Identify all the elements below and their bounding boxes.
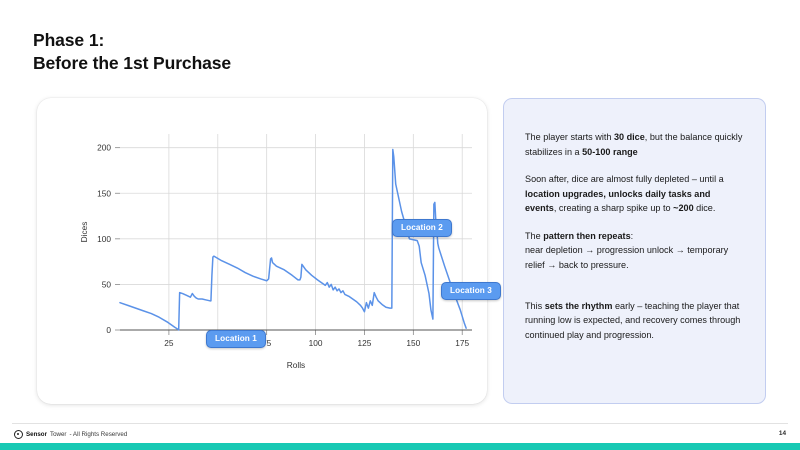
footer-accent-bar (0, 443, 800, 450)
note-run: Soon after, dice are almost fully deplet… (525, 174, 724, 184)
x-tick-label: 125 (358, 338, 372, 348)
page-title: Phase 1: Before the 1st Purchase (33, 29, 231, 76)
annotation-badge-location-3[interactable]: Location 3 (441, 282, 501, 300)
note-paragraph-2: Soon after, dice are almost fully deplet… (525, 172, 743, 216)
note-run: The player starts with (525, 132, 614, 142)
footer-brand-light: Tower (50, 431, 67, 438)
note-run: 50-100 range (582, 147, 638, 157)
x-tick-label: 25 (164, 338, 174, 348)
y-tick-label: 200 (97, 143, 111, 153)
slide-canvas: Phase 1: Before the 1st Purchase 0501001… (0, 0, 800, 450)
note-run: ~200 (673, 203, 693, 213)
note-run: dice. (694, 203, 716, 213)
note-paragraph-1: The player starts with 30 dice, but the … (525, 130, 743, 159)
note-run: pattern then repeats (543, 231, 630, 241)
chart-plot-area: 050100150200255075100125150175RollsDices (37, 98, 487, 404)
note-run: The (525, 231, 543, 241)
footer-rights-text: - All Rights Reserved (70, 431, 128, 438)
y-tick-label: 50 (102, 279, 112, 289)
note-run: near depletion → progression unlock → te… (525, 245, 728, 270)
x-tick-label: 100 (309, 338, 323, 348)
page-number: 14 (779, 430, 786, 437)
note-run: This (525, 301, 545, 311)
notes-panel: The player starts with 30 dice, but the … (503, 98, 766, 404)
chart-series-line (120, 150, 466, 331)
y-axis-title: Dices (79, 222, 89, 243)
y-tick-label: 150 (97, 188, 111, 198)
y-tick-label: 0 (106, 325, 111, 335)
footer-divider (12, 423, 788, 424)
page-title-line-2: Before the 1st Purchase (33, 52, 231, 75)
chart-card: 050100150200255075100125150175RollsDices… (37, 98, 487, 404)
footer-branding: Sensor Tower - All Rights Reserved (14, 430, 127, 439)
line-chart: 050100150200255075100125150175RollsDices… (37, 98, 487, 404)
note-paragraph-3: The pattern then repeats:near depletion … (525, 229, 743, 273)
note-run: , creating a sharp spike up to (554, 203, 673, 213)
y-tick-label: 100 (97, 234, 111, 244)
annotation-badge-location-1[interactable]: Location 1 (206, 330, 266, 348)
note-run: 30 dice (614, 132, 645, 142)
x-axis-title: Rolls (287, 360, 305, 370)
page-title-line-1: Phase 1: (33, 29, 231, 52)
note-run: sets the rhythm (545, 301, 613, 311)
x-tick-label: 175 (455, 338, 469, 348)
note-run: : (631, 231, 634, 241)
footer-brand-strong: Sensor (26, 431, 47, 438)
annotation-badge-location-2[interactable]: Location 2 (392, 219, 452, 237)
note-paragraph-4: This sets the rhythm early – teaching th… (525, 299, 743, 343)
sensor-tower-logo-icon (14, 430, 23, 439)
x-tick-label: 150 (406, 338, 420, 348)
